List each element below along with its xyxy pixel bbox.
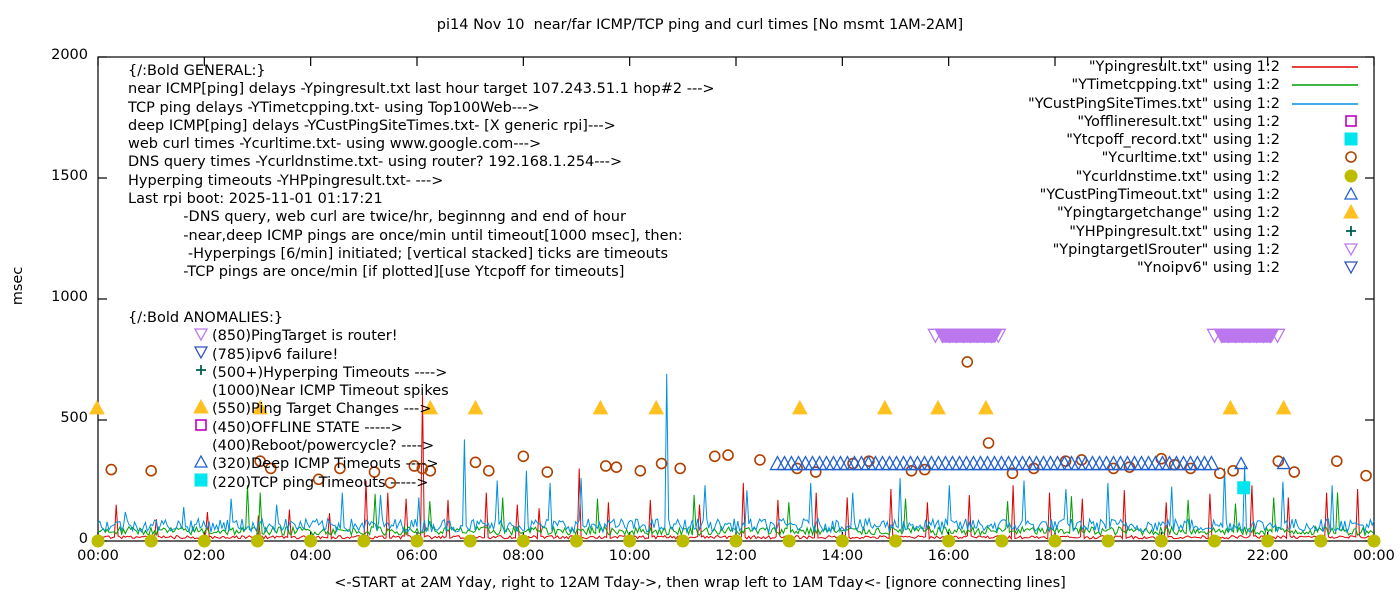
sym xyxy=(1345,188,1357,199)
sym xyxy=(195,329,207,340)
marker-open-triangle-up xyxy=(980,457,994,470)
marker-open-triangle-up xyxy=(882,457,896,470)
anomaly-row: (500+)Hyperping Timeouts ----> xyxy=(128,364,449,382)
symbol-filled-triangle-up xyxy=(1342,204,1360,220)
legend: "Ypingresult.txt" using 1:2"YTimetcpping… xyxy=(980,58,1280,278)
marker-filled-circle xyxy=(411,535,423,547)
sym xyxy=(1345,262,1357,273)
legend-row: "Yofflineresult.txt" using 1:2 xyxy=(980,113,1280,131)
legend-key xyxy=(1280,241,1360,259)
legend-label: "YpingtargetISrouter" using 1:2 xyxy=(1053,242,1280,258)
marker-open-triangle-up xyxy=(826,457,840,470)
marker-filled-triangle-up xyxy=(468,401,482,414)
symbol-filled-triangle-up xyxy=(192,399,210,415)
legend-row: "YHPpingresult.txt" using 1:2 xyxy=(980,223,1280,241)
marker-filled-circle xyxy=(1262,535,1274,547)
marker-open-circle xyxy=(611,462,621,472)
sym xyxy=(195,347,207,358)
symbol-open-triangle-down xyxy=(1342,241,1360,257)
anomaly-row: (785)ipv6 failure! xyxy=(128,346,449,364)
anomaly-label: (500+)Hyperping Timeouts ----> xyxy=(212,364,447,382)
legend-label: "YTimetcpping.txt" using 1:2 xyxy=(1072,77,1280,93)
legend-row: "YCustPingSiteTimes.txt" using 1:2 xyxy=(980,95,1280,113)
legend-row: "YCustPingTimeout.txt" using 1:2 xyxy=(980,186,1280,204)
marker-open-triangle-up xyxy=(952,457,966,470)
anomaly-row: (220)TCP ping Timeouts -----> xyxy=(128,474,449,492)
legend-line-key xyxy=(1290,95,1360,113)
legend-line-key xyxy=(1290,76,1360,94)
marker-filled-circle xyxy=(198,535,210,547)
marker-open-triangle-up xyxy=(959,457,973,470)
marker-open-triangle-up xyxy=(1043,457,1057,470)
general-line: web curl times -Ycurltime.txt- using www… xyxy=(128,135,715,153)
marker-open-circle xyxy=(755,455,765,465)
marker-filled-circle xyxy=(1315,535,1327,547)
marker-open-triangle-up xyxy=(987,457,1001,470)
marker-filled-circle xyxy=(943,535,955,547)
sym xyxy=(194,400,208,413)
anomaly-label: (220)TCP ping Timeouts -----> xyxy=(212,474,428,492)
marker-filled-triangle-up xyxy=(593,401,607,414)
marker-filled-circle xyxy=(358,535,370,547)
sym xyxy=(1345,244,1357,255)
symbol-filled-circle xyxy=(1342,168,1360,184)
marker-open-triangle-up xyxy=(966,457,980,470)
legend-row: "Ypingtargetchange" using 1:2 xyxy=(980,204,1280,222)
legend-key xyxy=(1280,168,1360,186)
band-ping-target-is-router xyxy=(935,329,1001,342)
anomalies-annotation-block: {/:Bold ANOMALIES:}(850)PingTarget is ro… xyxy=(128,309,449,492)
legend-row: "Ycurltime.txt" using 1:2 xyxy=(980,149,1280,167)
legend-label: "YCustPingSiteTimes.txt" using 1:2 xyxy=(1028,96,1280,112)
legend-label: "Yofflineresult.txt" using 1:2 xyxy=(1077,114,1280,130)
marker-filled-circle xyxy=(1155,535,1167,547)
legend-marker-key xyxy=(1342,259,1360,280)
legend-key xyxy=(1280,149,1360,167)
sym xyxy=(1346,116,1356,126)
sym xyxy=(196,365,206,375)
legend-label: "YHPpingresult.txt" using 1:2 xyxy=(1069,224,1280,240)
sym xyxy=(196,420,206,430)
legend-key xyxy=(1280,76,1360,94)
marker-filled-circle xyxy=(145,535,157,547)
marker-open-triangle-up xyxy=(1008,457,1022,470)
legend-key xyxy=(1280,131,1360,149)
general-line: near ICMP[ping] delays -Ypingresult.txt … xyxy=(128,80,715,98)
marker-open-circle xyxy=(1289,467,1299,477)
general-annotation-block: {/:Bold GENERAL:}near ICMP[ping] delays … xyxy=(128,62,715,282)
legend-key xyxy=(1280,259,1360,277)
marker-filled-triangle-up xyxy=(793,401,807,414)
marker-open-circle xyxy=(710,451,720,461)
legend-row: "YpingtargetISrouter" using 1:2 xyxy=(980,241,1280,259)
symbol-open-triangle-down xyxy=(192,326,210,342)
marker-open-triangle-up xyxy=(770,457,784,470)
legend-key xyxy=(1280,58,1360,76)
marker-filled-triangle-up xyxy=(90,401,104,414)
marker-open-triangle-up xyxy=(875,457,889,470)
marker-open-triangle-up xyxy=(1050,457,1064,470)
legend-key xyxy=(1280,223,1360,241)
sym xyxy=(1346,226,1356,236)
marker-open-triangle-up xyxy=(1197,457,1211,470)
marker-filled-circle xyxy=(517,535,529,547)
general-line: Hyperping timeouts -YHPpingresult.txt- -… xyxy=(128,172,715,190)
marker-filled-triangle-up xyxy=(649,401,663,414)
anomaly-label: (550)Ping Target Changes ---> xyxy=(212,400,431,418)
legend-row: "Ypingresult.txt" using 1:2 xyxy=(980,58,1280,76)
anomaly-symbol xyxy=(190,472,212,493)
marker-filled-circle xyxy=(464,535,476,547)
marker-filled-circle xyxy=(996,535,1008,547)
marker-open-triangle-up xyxy=(868,457,882,470)
marker-open-triangle-up xyxy=(945,457,959,470)
general-line: -TCP pings are once/min [if plotted][use… xyxy=(128,263,715,281)
legend-label: "Ycurltime.txt" using 1:2 xyxy=(1102,150,1280,166)
legend-key xyxy=(1280,204,1360,222)
marker-open-circle xyxy=(542,467,552,477)
legend-row: "Ycurldnstime.txt" using 1:2 xyxy=(980,168,1280,186)
anomaly-row: (850)PingTarget is router! xyxy=(128,327,449,345)
symbol-open-square xyxy=(192,417,210,433)
symbol-plus xyxy=(192,362,210,378)
marker-filled-circle xyxy=(305,535,317,547)
marker-filled-square xyxy=(1238,482,1250,494)
legend-label: "Ypingtargetchange" using 1:2 xyxy=(1057,205,1280,221)
marker-open-triangle-up xyxy=(889,457,903,470)
symbol-open-triangle-up xyxy=(192,454,210,470)
marker-filled-triangle-up xyxy=(931,401,945,414)
anomaly-label: (320)Deep ICMP Timeouts ----> xyxy=(212,455,439,473)
legend-row: "Ytcpoff_record.txt" using 1:2 xyxy=(980,131,1280,149)
marker-open-circle xyxy=(1361,471,1371,481)
marker-open-triangle-up xyxy=(924,457,938,470)
marker-open-triangle-up xyxy=(994,457,1008,470)
marker-open-circle xyxy=(1332,456,1342,466)
marker-filled-circle xyxy=(1368,535,1380,547)
anomaly-label: (785)ipv6 failure! xyxy=(212,346,338,364)
marker-open-circle xyxy=(106,465,116,475)
general-line: -near,deep ICMP pings are once/min until… xyxy=(128,227,715,245)
anomaly-row: (400)Reboot/powercycle? ----> xyxy=(128,437,449,455)
marker-open-triangle-up xyxy=(910,457,924,470)
marker-open-triangle-up xyxy=(798,457,812,470)
marker-filled-triangle-up xyxy=(979,401,993,414)
marker-open-triangle-up xyxy=(833,457,847,470)
marker-open-triangle-up xyxy=(819,457,833,470)
marker-filled-circle xyxy=(1102,535,1114,547)
anomaly-label: (450)OFFLINE STATE -----> xyxy=(212,419,403,437)
legend-label: "Ycurldnstime.txt" using 1:2 xyxy=(1076,169,1280,185)
anomaly-row: (450)OFFLINE STATE -----> xyxy=(128,419,449,437)
marker-open-triangle-up xyxy=(1141,457,1155,470)
legend-label: "Ynoipv6" using 1:2 xyxy=(1137,260,1280,276)
general-line: TCP ping delays -YTimetcpping.txt- using… xyxy=(128,99,715,117)
sym xyxy=(1344,205,1358,218)
sym xyxy=(1345,133,1357,145)
anomaly-label: (400)Reboot/powercycle? ----> xyxy=(212,437,434,455)
symbol-open-square xyxy=(1342,113,1360,129)
marker-open-triangle-up xyxy=(1085,457,1099,470)
symbol-none xyxy=(192,381,210,397)
marker-filled-circle xyxy=(783,535,795,547)
symbol-open-triangle-down xyxy=(192,344,210,360)
marker-open-circle xyxy=(484,466,494,476)
marker-filled-circle xyxy=(677,535,689,547)
anomaly-label: (850)PingTarget is router! xyxy=(212,327,398,345)
marker-open-circle xyxy=(1228,466,1238,476)
marker-open-triangle-up xyxy=(931,457,945,470)
symbol-filled-square xyxy=(192,472,210,488)
marker-open-circle xyxy=(635,466,645,476)
symbol-open-circle xyxy=(1342,149,1360,165)
marker-open-circle xyxy=(657,459,667,469)
marker-open-triangle-up xyxy=(973,457,987,470)
marker-open-circle xyxy=(723,450,733,460)
marker-filled-circle xyxy=(571,535,583,547)
marker-open-circle xyxy=(962,357,972,367)
marker-filled-circle xyxy=(624,535,636,547)
general-line: deep ICMP[ping] delays -YCustPingSiteTim… xyxy=(128,117,715,135)
marker-open-triangle-up xyxy=(1015,457,1029,470)
sym xyxy=(195,456,207,467)
general-heading: {/:Bold GENERAL:} xyxy=(128,62,715,80)
general-line: Last rpi boot: 2025-11-01 01:17:21 xyxy=(128,190,715,208)
marker-open-triangle-up xyxy=(1134,457,1148,470)
marker-open-circle xyxy=(470,457,480,467)
marker-filled-circle xyxy=(836,535,848,547)
general-line: -Hyperpings [6/min] initiated; [vertical… xyxy=(128,245,715,263)
symbol-filled-square xyxy=(1342,131,1360,147)
marker-filled-circle xyxy=(92,535,104,547)
general-line: -DNS query, web curl are twice/hr, begin… xyxy=(128,208,715,226)
sym xyxy=(1346,152,1356,162)
marker-open-circle xyxy=(518,451,528,461)
sym xyxy=(1345,170,1357,182)
symbol-none xyxy=(192,436,210,452)
symbol-plus xyxy=(1342,223,1360,239)
symbol-open-triangle-up xyxy=(1342,186,1360,202)
legend-key xyxy=(1280,95,1360,113)
anomaly-row: (320)Deep ICMP Timeouts ----> xyxy=(128,455,449,473)
symbol-open-triangle-down xyxy=(1342,259,1360,275)
marker-open-triangle-up xyxy=(938,457,952,470)
legend-key xyxy=(1280,186,1360,204)
legend-label: "Ypingresult.txt" using 1:2 xyxy=(1089,59,1280,75)
marker-open-triangle-up xyxy=(1092,457,1106,470)
anomaly-label: (1000)Near ICMP Timeout spikes xyxy=(212,382,449,400)
legend-row: "Ynoipv6" using 1:2 xyxy=(980,259,1280,277)
marker-open-circle xyxy=(984,438,994,448)
marker-open-circle xyxy=(601,461,611,471)
marker-open-triangle-up xyxy=(777,457,791,470)
anomaly-row: (1000)Near ICMP Timeout spikes xyxy=(128,382,449,400)
marker-filled-circle xyxy=(1209,535,1221,547)
anomalies-heading: {/:Bold ANOMALIES:} xyxy=(128,309,449,327)
legend-key xyxy=(1280,113,1360,131)
band-ping-target-is-router xyxy=(1215,329,1279,342)
legend-label: "Ytcpoff_record.txt" using 1:2 xyxy=(1066,132,1280,148)
anomaly-row: (550)Ping Target Changes ---> xyxy=(128,400,449,418)
general-line: DNS query times -Ycurldnstime.txt- using… xyxy=(128,153,715,171)
marker-filled-circle xyxy=(1049,535,1061,547)
marker-open-triangle-up xyxy=(1169,457,1183,470)
marker-open-circle xyxy=(675,463,685,473)
legend-row: "YTimetcpping.txt" using 1:2 xyxy=(980,76,1280,94)
marker-filled-triangle-up xyxy=(1277,401,1291,414)
sym xyxy=(195,474,207,486)
marker-filled-circle xyxy=(730,535,742,547)
marker-filled-triangle-up xyxy=(1223,401,1237,414)
legend-label: "YCustPingTimeout.txt" using 1:2 xyxy=(1040,187,1280,203)
marker-open-triangle-up xyxy=(1204,457,1218,470)
marker-filled-circle xyxy=(252,535,264,547)
marker-filled-circle xyxy=(890,535,902,547)
legend-line-key xyxy=(1290,58,1360,76)
marker-filled-triangle-up xyxy=(878,401,892,414)
